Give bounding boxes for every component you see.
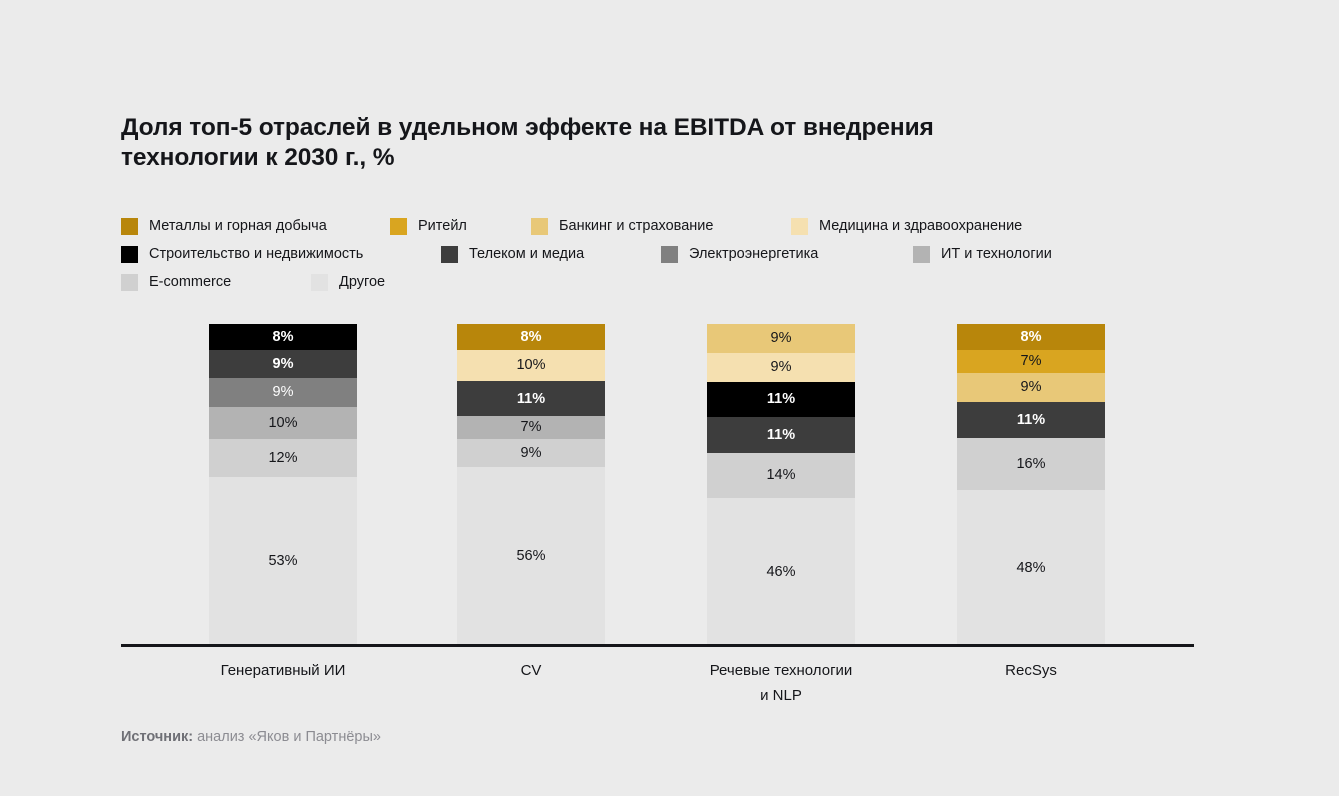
bar-segment[interactable]: 11% (457, 381, 605, 416)
bar-segment-value-label: 9% (771, 331, 792, 346)
x-axis-category-label-line: Речевые технологии (710, 662, 853, 679)
bar-segment-value-label: 9% (273, 357, 294, 372)
bar-segment-value-label: 7% (521, 420, 542, 435)
bar-segment[interactable]: 8% (457, 324, 605, 350)
legend-swatch-icon (531, 218, 548, 235)
bar-segment-value-label: 9% (771, 360, 792, 375)
source-text: анализ «Яков и Партнёры» (193, 729, 381, 745)
bar-segment-value-label: 9% (521, 446, 542, 461)
bar-segment[interactable]: 53% (209, 477, 357, 646)
x-axis-category-labels: Генеративный ИИCVРечевые технологиии NLP… (121, 658, 1194, 718)
bar-segment[interactable]: 7% (957, 350, 1105, 373)
legend-item-label: Строительство и недвижимость (149, 246, 363, 263)
legend-item-label: E-commerce (149, 274, 231, 291)
legend-item[interactable]: Металлы и горная добыча (121, 212, 327, 240)
legend-row: Металлы и горная добычаРитейлБанкинг и с… (121, 212, 1131, 240)
bar-segment[interactable]: 9% (457, 439, 605, 468)
bar-segment-value-label: 8% (521, 330, 542, 345)
bar-segment[interactable]: 11% (707, 417, 855, 452)
legend-item-label: Телеком и медиа (469, 246, 584, 263)
legend-swatch-icon (121, 274, 138, 291)
bar-segment[interactable]: 56% (457, 467, 605, 646)
x-axis-category-label: Генеративный ИИ (173, 658, 393, 683)
legend-row: Строительство и недвижимостьТелеком и ме… (121, 240, 1131, 268)
bar-segment-value-label: 8% (1021, 330, 1042, 345)
slide-canvas: Доля топ-5 отраслей в удельном эффекте н… (0, 0, 1339, 796)
bar-segment-value-label: 8% (273, 330, 294, 345)
bar-segment[interactable]: 10% (457, 350, 605, 382)
x-axis-category-label: RecSys (921, 658, 1141, 683)
legend-item[interactable]: Другое (311, 268, 385, 296)
page-title: Доля топ-5 отраслей в удельном эффекте н… (121, 113, 1081, 173)
bar-segment-value-label: 11% (767, 428, 795, 443)
source-note: Источник: анализ «Яков и Партнёры» (121, 727, 381, 747)
bar-segment-value-label: 9% (273, 385, 294, 400)
source-prefix: Источник: (121, 729, 193, 745)
x-axis-category-label-line: RecSys (1005, 662, 1057, 679)
bar-segment-value-label: 53% (268, 554, 297, 569)
bar-segment-value-label: 48% (1016, 561, 1045, 576)
stacked-bar: 8%7%9%11%16%48% (957, 324, 1105, 646)
legend-item-label: Ритейл (418, 218, 467, 235)
stacked-bar: 9%9%11%11%14%46% (707, 324, 855, 646)
legend-swatch-icon (791, 218, 808, 235)
legend-item-label: Медицина и здравоохранение (819, 218, 1022, 235)
x-axis-category-label: CV (421, 658, 641, 683)
bar-segment-value-label: 10% (516, 358, 545, 373)
bar-segment[interactable]: 16% (957, 438, 1105, 490)
legend-row: E-commerceДругое (121, 268, 1131, 296)
legend-item-label: Другое (339, 274, 385, 291)
bar-segment-value-label: 11% (1017, 413, 1045, 428)
bar-segment[interactable]: 8% (209, 324, 357, 350)
legend-item-label: Банкинг и страхование (559, 218, 713, 235)
bar-segment-value-label: 14% (766, 468, 795, 483)
bar-segment[interactable]: 11% (707, 382, 855, 417)
title-line-1: Доля топ-5 отраслей в удельном эффекте н… (121, 113, 1081, 143)
bar-segment[interactable]: 9% (707, 324, 855, 353)
bar-segment[interactable]: 9% (707, 353, 855, 382)
bar-segment[interactable]: 46% (707, 498, 855, 646)
stacked-bar: 8%9%9%10%12%53% (209, 324, 357, 646)
bar-segment[interactable]: 9% (209, 350, 357, 379)
stacked-bar: 8%10%11%7%9%56% (457, 324, 605, 646)
x-axis-category-label: Речевые технологиии NLP (671, 658, 891, 708)
bar-segment[interactable]: 9% (957, 373, 1105, 402)
legend-item[interactable]: Ритейл (390, 212, 467, 240)
x-axis-category-label-line: Генеративный ИИ (221, 662, 346, 679)
legend-swatch-icon (121, 246, 138, 263)
x-axis-line (121, 644, 1194, 647)
bar-segment-value-label: 56% (516, 549, 545, 564)
bar-segment[interactable]: 11% (957, 402, 1105, 438)
chart-legend: Металлы и горная добычаРитейлБанкинг и с… (121, 212, 1131, 296)
legend-item[interactable]: Медицина и здравоохранение (791, 212, 1022, 240)
bar-segment-value-label: 9% (1021, 380, 1042, 395)
legend-item[interactable]: Банкинг и страхование (531, 212, 713, 240)
legend-item[interactable]: Электроэнергетика (661, 240, 818, 268)
x-axis-category-label-line: и NLP (671, 683, 891, 708)
legend-item[interactable]: Строительство и недвижимость (121, 240, 363, 268)
legend-swatch-icon (441, 246, 458, 263)
bar-segment[interactable]: 8% (957, 324, 1105, 350)
bar-segment[interactable]: 14% (707, 453, 855, 498)
legend-item-label: Металлы и горная добыча (149, 218, 327, 235)
bar-segment[interactable]: 12% (209, 439, 357, 477)
bar-segment-value-label: 7% (1021, 354, 1042, 369)
bar-segment[interactable]: 7% (457, 416, 605, 438)
legend-item[interactable]: ИТ и технологии (913, 240, 1052, 268)
legend-item[interactable]: E-commerce (121, 268, 231, 296)
stacked-bar-plot-area: 8%9%9%10%12%53%8%10%11%7%9%56%9%9%11%11%… (121, 322, 1194, 646)
bar-segment-value-label: 11% (517, 392, 545, 407)
legend-item[interactable]: Телеком и медиа (441, 240, 584, 268)
bar-segment-value-label: 12% (268, 451, 297, 466)
title-line-2: технологии к 2030 г., % (121, 143, 1081, 173)
legend-item-label: ИТ и технологии (941, 246, 1052, 263)
legend-swatch-icon (661, 246, 678, 263)
bar-segment[interactable]: 10% (209, 407, 357, 439)
bar-segment-value-label: 11% (767, 392, 795, 407)
legend-item-label: Электроэнергетика (689, 246, 818, 263)
x-axis-category-label-line: CV (521, 662, 542, 679)
bar-segment[interactable]: 48% (957, 490, 1105, 646)
bar-segment-value-label: 16% (1016, 457, 1045, 472)
legend-swatch-icon (390, 218, 407, 235)
bar-segment-value-label: 46% (766, 565, 795, 580)
legend-swatch-icon (311, 274, 328, 291)
bar-segment-value-label: 10% (268, 416, 297, 431)
legend-swatch-icon (121, 218, 138, 235)
legend-swatch-icon (913, 246, 930, 263)
bar-segment[interactable]: 9% (209, 378, 357, 407)
